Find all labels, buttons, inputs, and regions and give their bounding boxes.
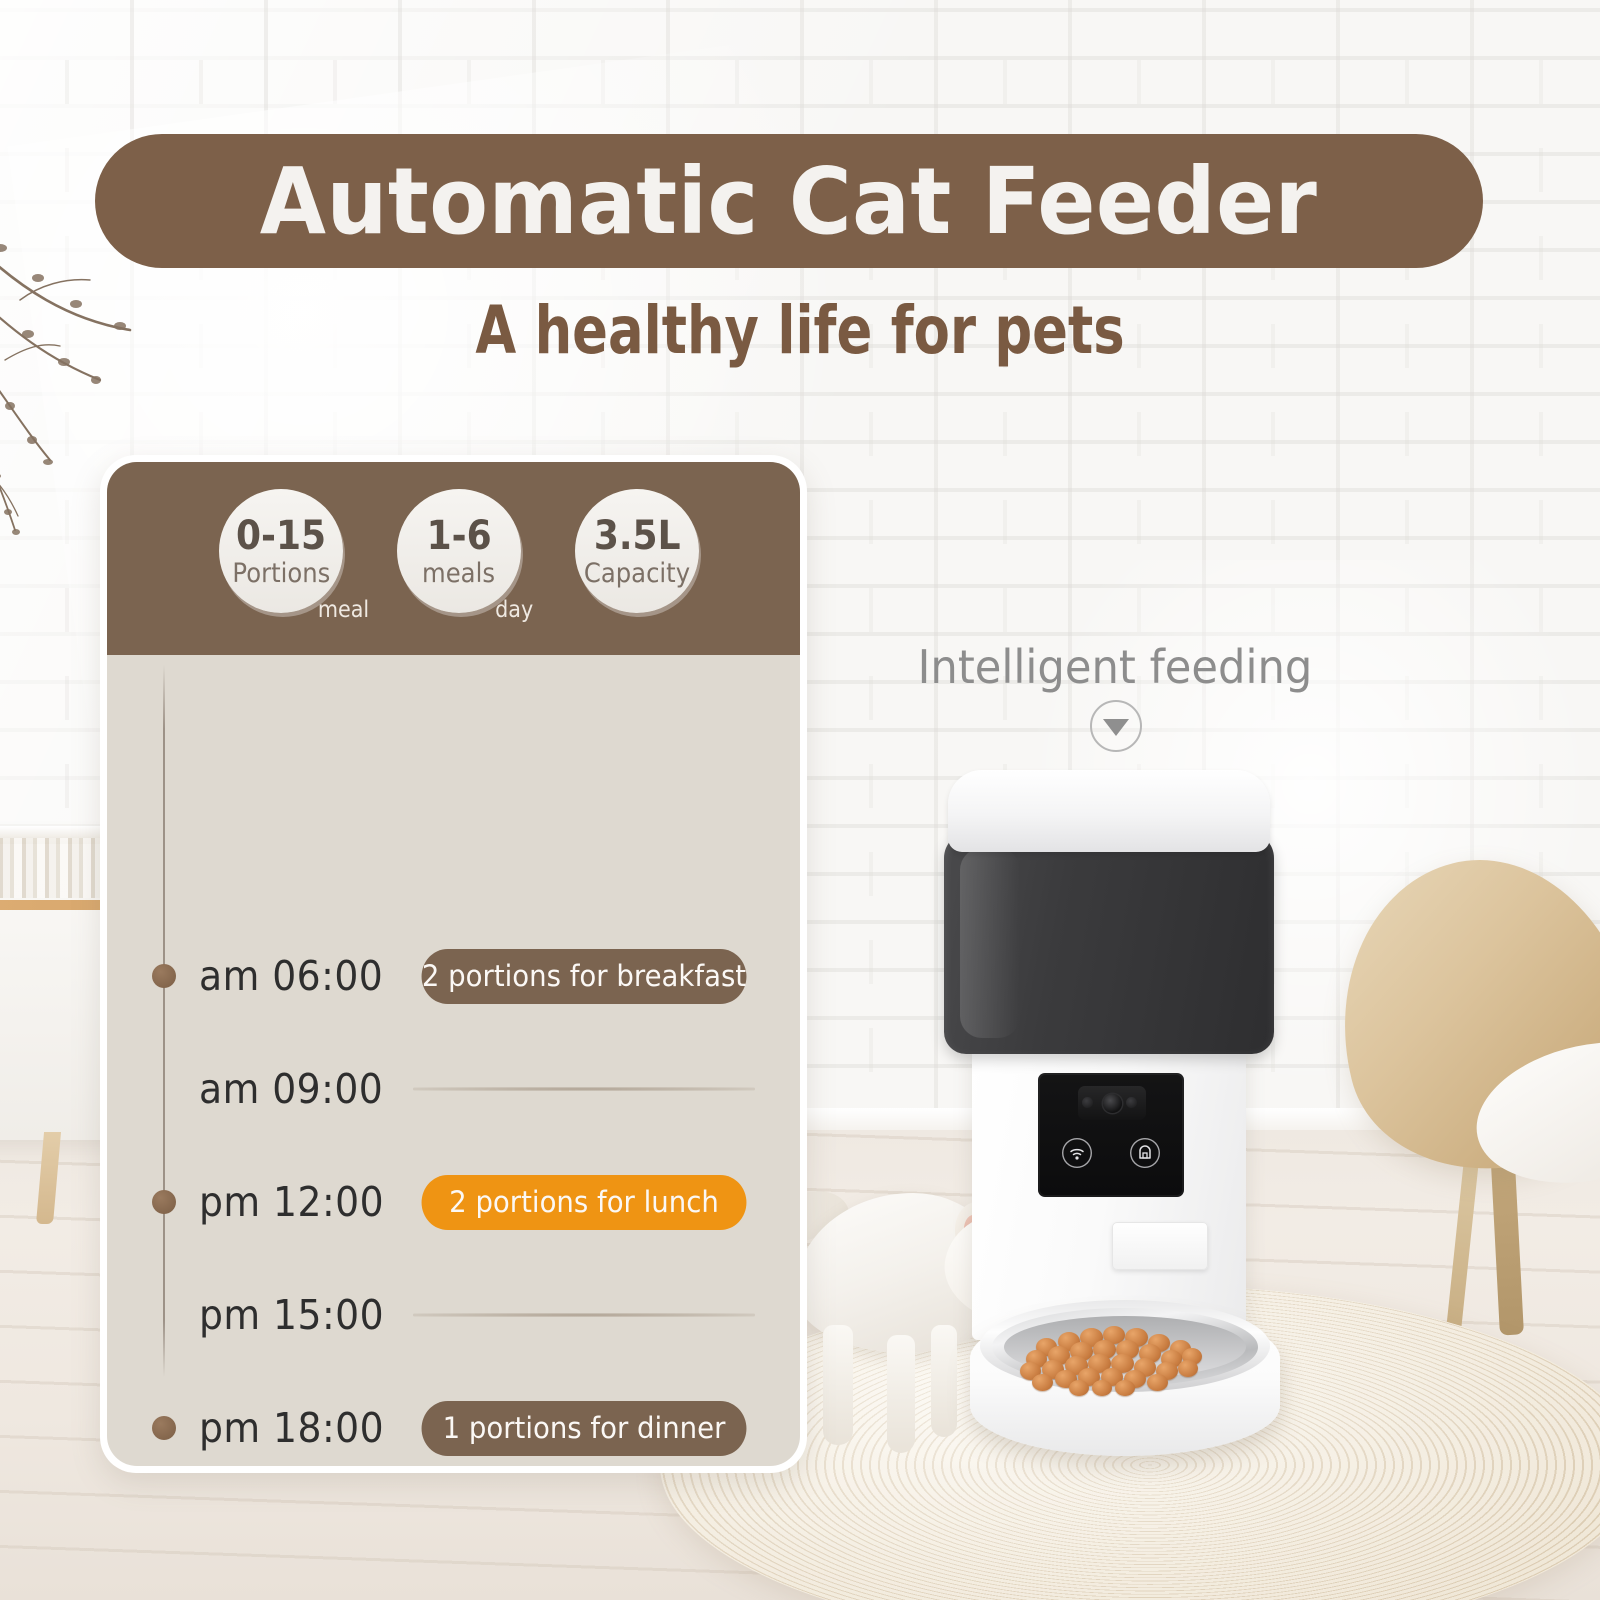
callout-label: Intelligent feeding <box>894 640 1336 694</box>
badge-unit-day: day <box>495 597 533 623</box>
title-banner: Automatic Cat Feeder <box>95 134 1483 268</box>
ir-led-right <box>1126 1097 1137 1108</box>
badge-label: Capacity <box>584 560 690 587</box>
schedule-row[interactable]: am 06:00 2 portions for breakfast <box>107 947 800 1005</box>
badge-unit-meal: meal <box>318 597 369 623</box>
spec-badge-portions: 0-15 Portions <box>219 489 343 613</box>
badge-label: meals <box>423 560 496 587</box>
hopper-highlight <box>960 848 1020 1038</box>
page-title: Automatic Cat Feeder <box>260 148 1317 255</box>
schedule-pill[interactable]: 2 portions for breakfast <box>422 949 747 1004</box>
badge-label: Portions <box>232 560 330 587</box>
schedule-time: pm 15:00 <box>199 1291 384 1339</box>
schedule-row[interactable]: pm 18:00 1 portions for dinner <box>107 1399 800 1457</box>
schedule-time: am 06:00 <box>199 952 383 1000</box>
schedule-marker-dot <box>152 1416 176 1440</box>
ir-led-left <box>1082 1097 1093 1108</box>
intelligent-feeding-callout: Intelligent feeding <box>880 640 1350 694</box>
spec-badges: 0-15 Portions meal 1-6 meals day 3.5L Ca… <box>107 462 800 655</box>
schedule-marker-dot <box>152 964 176 988</box>
card-header: 0-15 Portions meal 1-6 meals day 3.5L Ca… <box>107 462 800 655</box>
chair-leg-front <box>1445 1150 1480 1341</box>
cat-leg-mid <box>887 1335 915 1453</box>
badge-value: 0-15 <box>236 516 326 556</box>
schedule-empty-divider <box>413 1313 755 1317</box>
schedule-row[interactable]: pm 15:00 <box>107 1286 800 1344</box>
feeder-food-chute <box>1112 1222 1208 1270</box>
spec-badge-capacity: 3.5L Capacity <box>575 489 699 613</box>
badge-value: 3.5L <box>594 516 681 556</box>
feed-button-icon[interactable] <box>1130 1138 1160 1168</box>
schedule-row[interactable]: am 09:00 <box>107 1060 800 1118</box>
schedule-marker-dot <box>152 1190 176 1214</box>
badge-value: 1-6 <box>426 516 491 556</box>
page-subtitle: A healthy life for pets <box>160 292 1440 369</box>
schedule-time: pm 18:00 <box>199 1404 384 1452</box>
schedule-row[interactable]: pm 12:00 2 portions for lunch <box>107 1173 800 1231</box>
schedule-pill[interactable]: 2 portions for lunch <box>422 1175 747 1230</box>
chevron-down-circle-icon <box>1090 700 1142 752</box>
timeline-axis <box>163 665 165 1377</box>
schedule-empty-divider <box>413 1087 755 1091</box>
feeder-lid <box>948 770 1270 852</box>
feeding-schedule-list: am 06:00 2 portions for breakfast am 09:… <box>107 655 800 1466</box>
spec-badge-meals: 1-6 meals <box>397 489 521 613</box>
schedule-pill[interactable]: 1 portions for dinner <box>422 1401 747 1456</box>
feeding-schedule-card: 0-15 Portions meal 1-6 meals day 3.5L Ca… <box>100 455 807 1473</box>
product-banner: Automatic Cat Feeder A healthy life for … <box>0 0 1600 1600</box>
wifi-icon[interactable] <box>1062 1138 1092 1168</box>
cat-leg-rear <box>823 1325 853 1445</box>
schedule-time: am 09:00 <box>199 1065 383 1113</box>
schedule-time: pm 12:00 <box>199 1178 384 1226</box>
camera-lens-icon <box>1103 1094 1122 1113</box>
feeding-bowl <box>970 1290 1280 1460</box>
